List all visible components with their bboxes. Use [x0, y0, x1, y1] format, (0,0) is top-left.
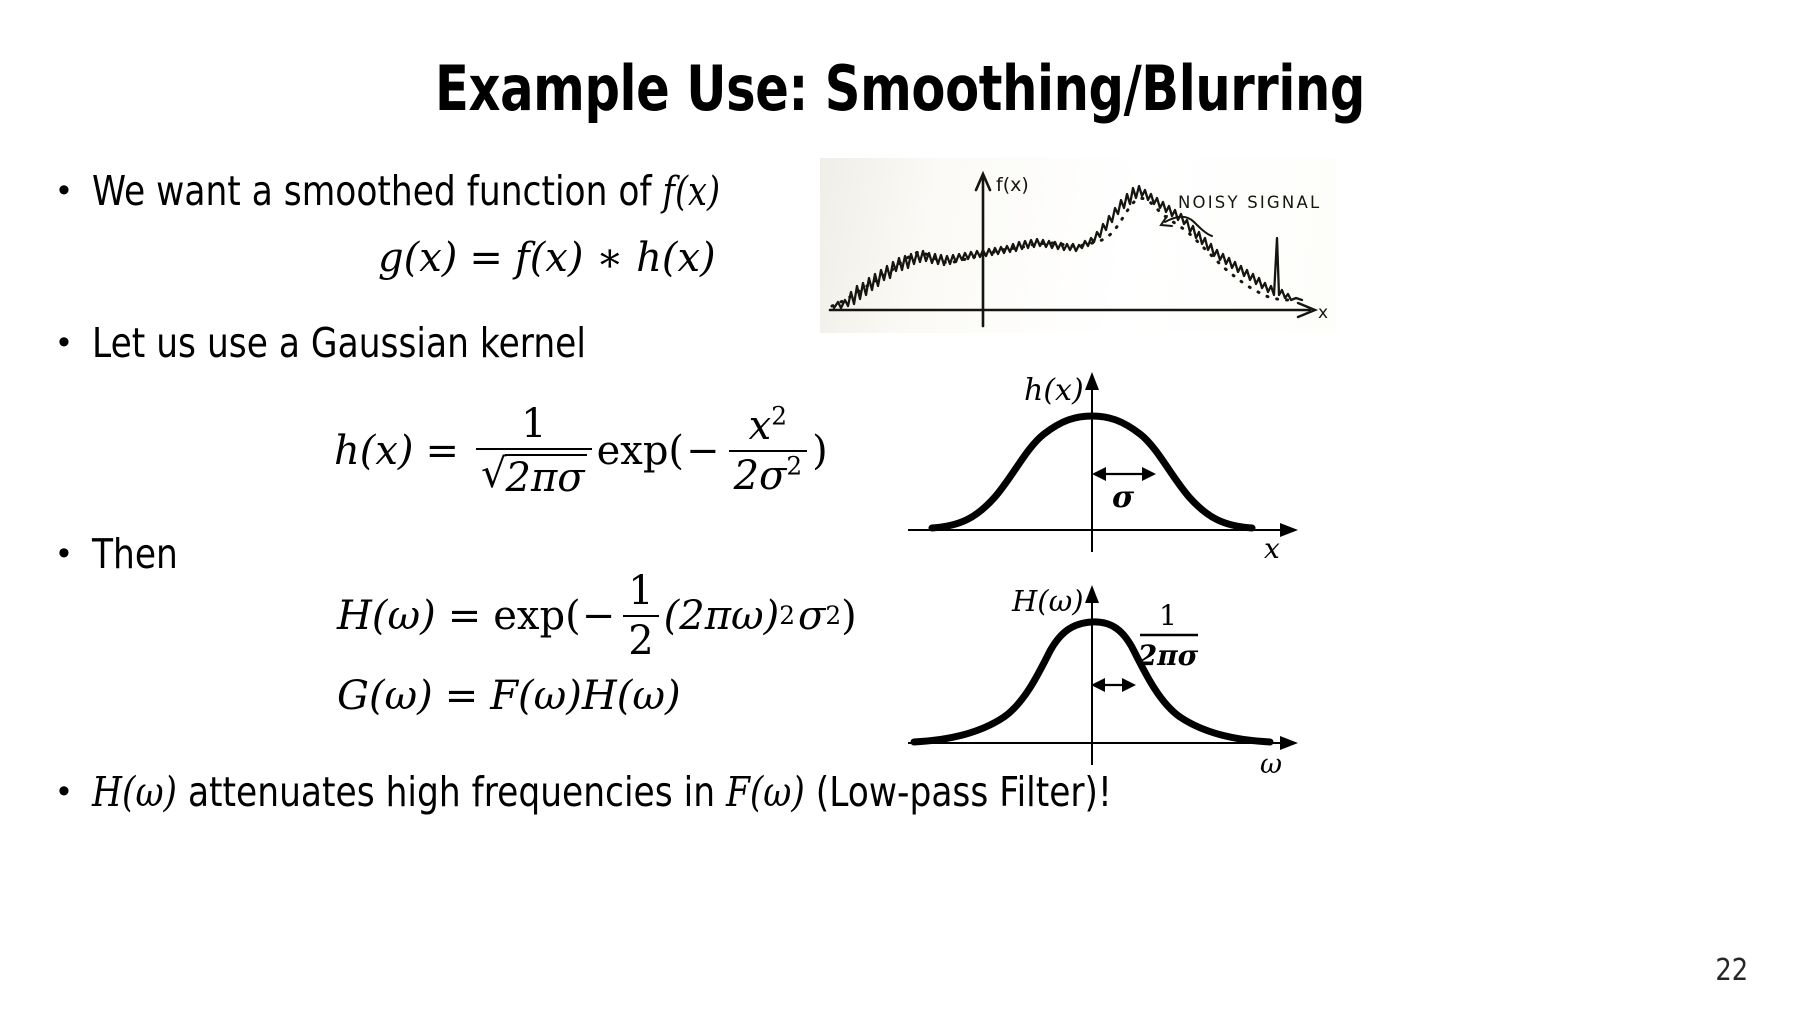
- equation-gaussian-numerator: 1: [516, 403, 551, 445]
- noisy-signal-y-axis-label: f(x): [996, 174, 1029, 196]
- transfer-x-axis-arrow: [1280, 736, 1298, 750]
- gaussian-sigma-label: σ: [1112, 480, 1135, 515]
- equation-spectrum-product: G(ω) = F(ω)H(ω): [337, 673, 681, 719]
- equation-transfer-minus: −: [581, 593, 619, 639]
- transfer-bandwidth-label: 1 2πσ: [1137, 599, 1199, 672]
- bullet-1-math: f(x): [663, 169, 721, 215]
- gaussian-x-axis-arrow: [1280, 523, 1298, 537]
- equation-gaussian-lhs: h(x): [334, 428, 414, 474]
- transfer-bandwidth-numerator: 1: [1159, 599, 1177, 632]
- slide-canvas: Example Use: Smoothing/Blurring • We wan…: [0, 0, 1800, 1016]
- equation-transfer-term: (2πω): [664, 593, 780, 639]
- transfer-y-axis-label: H(ω): [1011, 584, 1084, 618]
- equation-gaussian-exp: exp(: [597, 428, 684, 474]
- equation-transfer-sigma: σ: [795, 593, 825, 639]
- equation-product-lhs: G(ω): [337, 673, 433, 719]
- bullet-item-2-label: Let us use a Gaussian kernel: [92, 319, 586, 367]
- equation-convolution: g(x) = f(x) ∗ h(x): [378, 235, 716, 281]
- bullet-marker: •: [58, 768, 92, 814]
- content-column: • We want a smoothed function of f(x) g(…: [0, 155, 940, 955]
- exponent-den-base: 2σ: [734, 453, 787, 499]
- figure-transfer-function: H(ω) 1 2πσ ω: [900, 565, 1320, 780]
- equation-gaussian-denominator: √2πσ: [476, 453, 592, 499]
- transfer-y-axis-arrow: [1085, 585, 1099, 603]
- bullet-item-3-label: Then: [92, 530, 178, 578]
- bullet-marker: •: [58, 167, 92, 213]
- equation-gaussian-exponent-numerator: x2: [744, 405, 792, 447]
- gaussian-kernel-svg: h(x) σ x: [900, 352, 1320, 567]
- equation-gaussian-fraction: 1 √2πσ: [476, 403, 592, 500]
- exponent-den-power: 2: [786, 452, 802, 481]
- bullet-4-math-H: H(ω): [92, 768, 177, 816]
- slide-number: 22: [1715, 953, 1748, 988]
- bullet-1-text: We want a smoothed function of: [92, 167, 663, 215]
- equation-transfer-operator: =: [436, 593, 494, 639]
- gaussian-y-axis-arrow: [1085, 372, 1099, 390]
- exponent-num-power: 2: [771, 402, 787, 431]
- equation-transfer-function: H(ω) = exp( − 1 2 (2πω) 2 σ 2 ): [337, 570, 857, 663]
- fraction-bar: [476, 448, 592, 450]
- equation-gaussian-kernel: h(x) = 1 √2πσ exp( − x2 2σ2 ): [334, 403, 828, 500]
- gaussian-sigma-arrow: [1092, 467, 1156, 481]
- equation-transfer-half-fraction: 1 2: [623, 570, 658, 663]
- figure-noisy-signal: f(x) x NOISY SIGNAL: [820, 158, 1336, 333]
- equation-gaussian-operator: =: [414, 428, 472, 474]
- square-root-icon: √2πσ: [481, 454, 587, 499]
- underlying-signal-dotted-curve: [832, 198, 1290, 306]
- page-title: Example Use: Smoothing/Blurring: [180, 56, 1620, 121]
- figure-gaussian-kernel: h(x) σ x: [900, 352, 1320, 567]
- bullet-item-2: • Let us use a Gaussian kernel: [58, 319, 680, 367]
- bullet-item-3: • Then: [58, 530, 194, 578]
- equation-transfer-half-denominator: 2: [623, 620, 658, 662]
- equation-gaussian-close-paren: ): [812, 428, 828, 474]
- bullet-marker: •: [58, 319, 92, 365]
- equation-transfer-close-paren: ): [841, 593, 857, 639]
- transfer-bandwidth-denominator: 2πσ: [1137, 639, 1199, 672]
- bullet-marker: •: [58, 530, 92, 576]
- transfer-bandwidth-arrow: [1091, 678, 1136, 692]
- equation-gaussian-exponent-fraction: x2 2σ2: [729, 405, 808, 498]
- noisy-signal-annotation-label: NOISY SIGNAL: [1178, 193, 1321, 212]
- equation-gaussian-radicand: 2πσ: [505, 454, 587, 499]
- gaussian-y-axis-label: h(x): [1024, 373, 1084, 408]
- equation-product-operator: =: [433, 673, 491, 719]
- transfer-function-svg: H(ω) 1 2πσ ω: [900, 565, 1320, 780]
- equation-product-rhs: F(ω)H(ω): [490, 673, 680, 719]
- noisy-signal-x-axis-label: x: [1318, 303, 1328, 323]
- noisy-signal-svg: f(x) x NOISY SIGNAL: [820, 158, 1336, 333]
- equation-transfer-exp: exp(: [493, 593, 580, 639]
- equation-convolution-lhs: g(x): [378, 235, 457, 281]
- bullet-4-math-F: F(ω): [726, 768, 805, 816]
- bullet-4-text-1: attenuates high frequencies in: [177, 768, 726, 816]
- equation-transfer-lhs: H(ω): [337, 593, 436, 639]
- equation-gaussian-minus: −: [684, 428, 724, 474]
- bullet-item-1: • We want a smoothed function of f(x): [58, 167, 840, 216]
- radical-glyph: √: [481, 454, 507, 499]
- equation-convolution-operator: =: [457, 235, 515, 281]
- equation-convolution-rhs: f(x) ∗ h(x): [515, 235, 716, 281]
- gaussian-x-axis-label: x: [1264, 532, 1280, 565]
- equation-gaussian-exponent-denominator: 2σ2: [729, 455, 808, 497]
- transfer-x-axis-label: ω: [1260, 749, 1282, 780]
- bullet-item-1-label: We want a smoothed function of f(x): [92, 167, 720, 216]
- equation-transfer-half-numerator: 1: [623, 570, 658, 612]
- exponent-num-base: x: [749, 403, 772, 449]
- fraction-bar: [623, 615, 658, 617]
